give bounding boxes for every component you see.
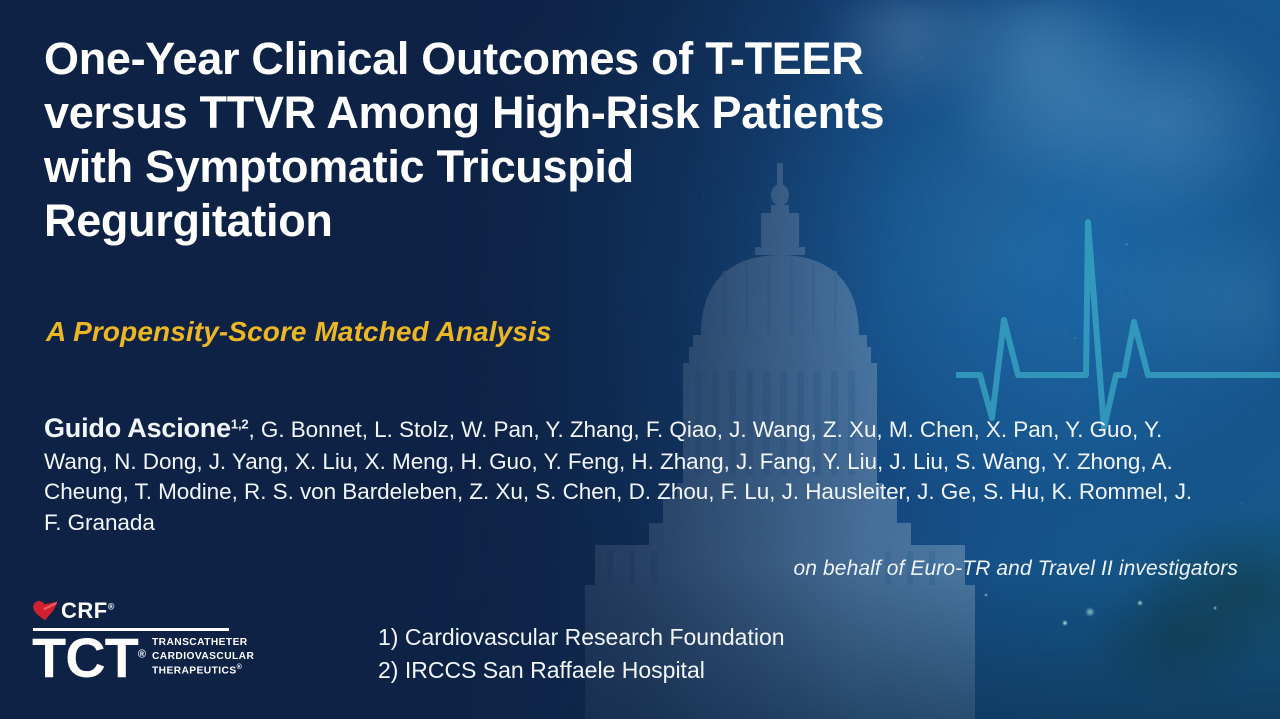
subtitle: A Propensity-Score Matched Analysis	[46, 316, 552, 348]
slide-content: One-Year Clinical Outcomes of T-TEER ver…	[0, 0, 1280, 719]
tct-lockup: TCT® TRANSCATHETER CARDIOVASCULAR THERAP…	[24, 632, 294, 684]
title-line-1: One-Year Clinical Outcomes of T-TEER	[44, 32, 1224, 86]
affiliation-item-1: 1) Cardiovascular Research Foundation	[378, 621, 785, 654]
title-line-4: Regurgitation	[44, 194, 1224, 248]
crf-tct-logo: CRF® TCT® TRANSCATHETER CARDIOVASCULAR T…	[24, 598, 294, 690]
tagline-line-3: THERAPEUTICS	[152, 665, 237, 676]
tagline-line-1: TRANSCATHETER	[152, 637, 248, 648]
tagline-line-2: CARDIOVASCULAR	[152, 651, 254, 662]
affiliations-list: 1) Cardiovascular Research Foundation 2)…	[378, 621, 785, 688]
affiliation-item-2: 2) IRCCS San Raffaele Hospital	[378, 654, 785, 687]
tagline-registered-mark: ®	[237, 664, 243, 671]
tct-tagline: TRANSCATHETER CARDIOVASCULAR THERAPEUTIC…	[152, 636, 254, 683]
lead-author-name: Guido Ascione	[44, 413, 231, 443]
page-title: One-Year Clinical Outcomes of T-TEER ver…	[44, 32, 1224, 248]
title-line-2: versus TTVR Among High-Risk Patients	[44, 86, 1224, 140]
title-slide: One-Year Clinical Outcomes of T-TEER ver…	[0, 0, 1280, 719]
crf-wordmark: CRF®	[61, 600, 115, 622]
title-line-3: with Symptomatic Tricuspid	[44, 140, 1224, 194]
on-behalf-of-note: on behalf of Euro-TR and Travel II inves…	[794, 557, 1238, 581]
crf-lockup: CRF®	[24, 598, 294, 624]
heart-icon	[32, 600, 58, 622]
author-list: Guido Ascione1,2, G. Bonnet, L. Stolz, W…	[44, 410, 1196, 539]
crf-registered-mark: ®	[108, 602, 115, 612]
lead-author-affiliation-marks: 1,2	[231, 417, 249, 432]
tct-wordmark: TCT®	[32, 632, 146, 684]
tct-registered-mark: ®	[138, 648, 146, 660]
